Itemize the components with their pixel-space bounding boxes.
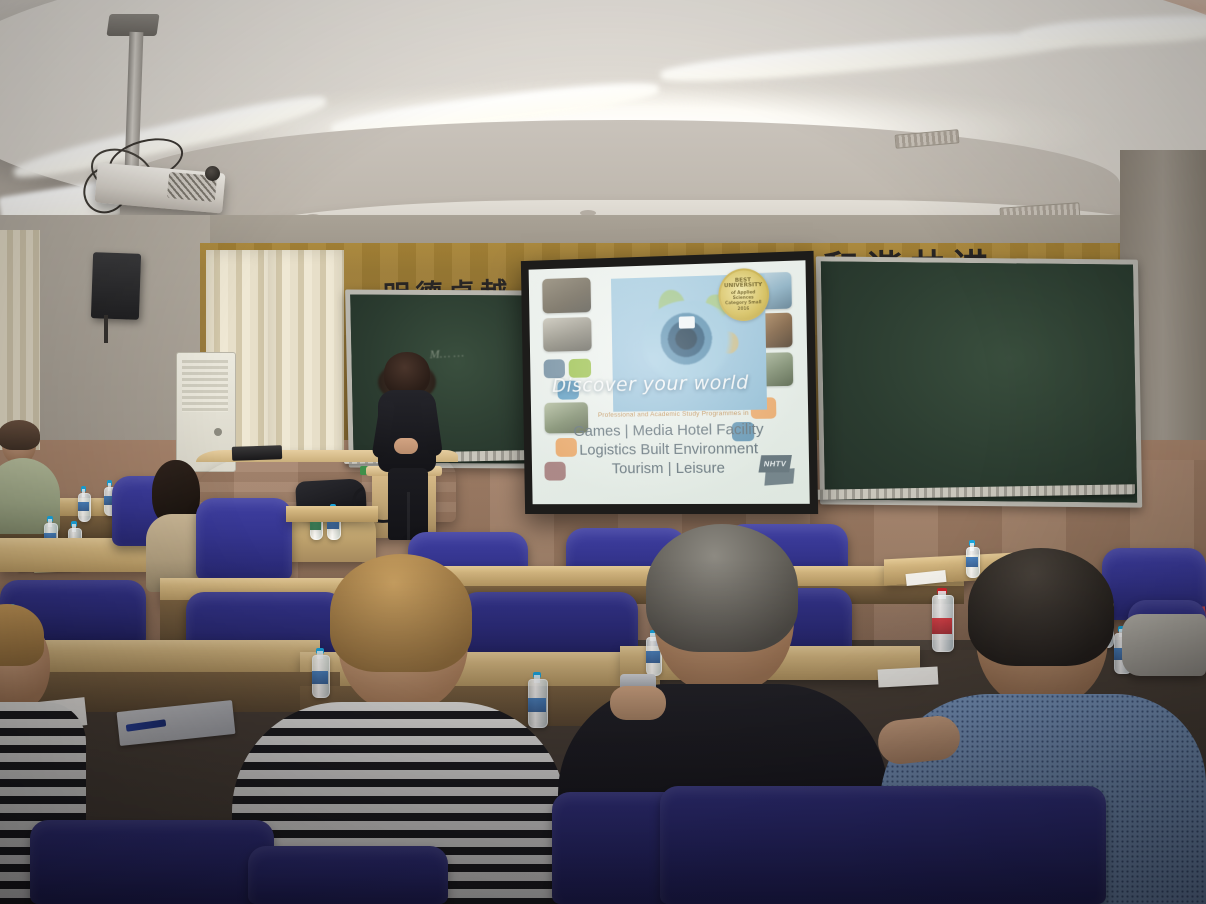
- slide-nhtv-logo: NHTV: [760, 455, 795, 486]
- water-bottle: [78, 486, 89, 520]
- classroom-photo: 明德卓越 和谐共进 Μ… …: [0, 0, 1206, 904]
- hair: [646, 524, 798, 652]
- ceiling: [0, 0, 1206, 250]
- projection-screen: BEST UNIVERSITY of Applied Sciences Cate…: [521, 251, 818, 514]
- air-conditioner-grill: [182, 360, 228, 412]
- presenter-leg-split: [407, 492, 410, 540]
- eye-highlight: [678, 316, 695, 328]
- presenter: [368, 352, 448, 540]
- seat: [660, 786, 1106, 904]
- slide-canvas: BEST UNIVERSITY of Applied Sciences Cate…: [529, 260, 810, 504]
- slide-subtitle: Professional and Academic Study Programm…: [574, 409, 774, 419]
- air-conditioner-indicator: [214, 428, 222, 436]
- slide-programmes-line-1: Games | Media Hotel Facility: [555, 420, 782, 440]
- blackboard-right: [816, 256, 1142, 507]
- slide-tagline: Discover your world: [552, 370, 785, 396]
- slide-programmes-line-3: Tourism | Leisure: [556, 459, 783, 477]
- desk-row: [286, 506, 378, 522]
- seat: [248, 846, 448, 904]
- seat: [30, 820, 274, 904]
- slide-programmes-line-2: Logistics Built Environment: [556, 440, 783, 459]
- logo-shape-upper: NHTV: [759, 455, 792, 472]
- presenter-hands: [394, 438, 418, 454]
- curtain: [0, 230, 40, 450]
- seal-line5: 2016: [737, 305, 749, 310]
- seal-line3: of Applied Sciences: [731, 289, 756, 300]
- audience-woman-green: [0, 424, 66, 534]
- podium-monitor: [232, 445, 282, 461]
- logo-text: NHTV: [763, 459, 787, 468]
- curtain: [268, 250, 344, 462]
- projector-lens: [205, 166, 220, 181]
- wall-speaker: [91, 252, 141, 320]
- speaker-mount-rod: [104, 315, 108, 343]
- slide-thumb-house: [542, 277, 591, 314]
- hair: [0, 420, 40, 450]
- jacket-on-seat: [1122, 614, 1206, 676]
- blackboard-surface: [821, 261, 1137, 502]
- slide-thumb-people: [543, 317, 592, 351]
- hand: [610, 686, 666, 720]
- hair: [330, 554, 472, 672]
- hair: [968, 548, 1114, 666]
- slide-award-seal: BEST UNIVERSITY of Applied Sciences Cate…: [717, 268, 769, 322]
